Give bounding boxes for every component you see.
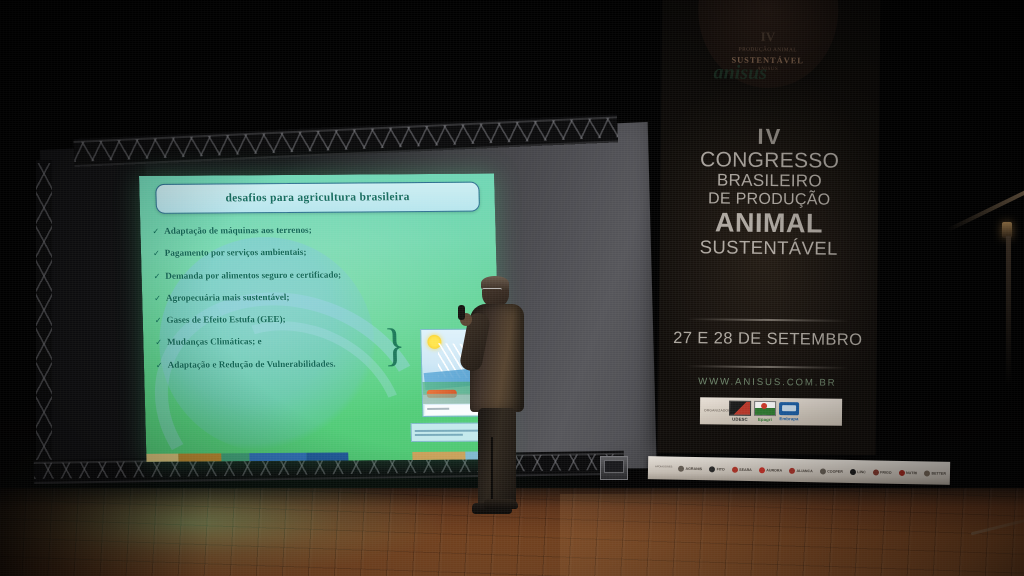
floor-logo: FITO (709, 466, 725, 472)
banner-date: 27 E 28 DE SETEMBRO (659, 329, 877, 350)
check-icon: ✓ (155, 317, 162, 325)
banner-roman-numeral: IV (661, 123, 879, 151)
floor-logo-name: SEARA (739, 467, 752, 471)
check-icon: ✓ (154, 272, 161, 280)
banner-title-line-2: BRASILEIRO (668, 171, 870, 191)
bullet-text: Adaptação de máquinas aos terrenos; (164, 225, 312, 236)
sponsor-name: UDESC (732, 417, 748, 422)
list-item: ✓ Pagamento por serviços ambientais; (153, 246, 453, 258)
floor-logo-name: BETTER (932, 471, 946, 475)
truss-bracing (36, 163, 52, 467)
list-item: ✓ Agropecuária mais sustentável; (154, 291, 454, 303)
bullet-text: Gases de Efeito Estufa (GEE); (166, 314, 285, 325)
epagri-logo-icon (754, 401, 776, 416)
floor-logo-name: FITO (717, 467, 725, 471)
list-item: ✓ Adaptação de máquinas aos terrenos; (152, 224, 452, 236)
floor-logo: BETTER (924, 470, 946, 476)
speaker-legs (478, 408, 516, 506)
banner-sponsor-row: ORGANIZADORES: UDESC Epagri Embrapa (700, 397, 842, 425)
floor-logo: LINC (850, 468, 866, 474)
banner-title-line-1: CONGRESSO (669, 149, 871, 174)
floor-logo-name: FRIGO (880, 470, 891, 474)
banner-title-line-5: SUSTENTÁVEL (668, 237, 870, 259)
light-stand-post (1006, 236, 1011, 386)
floor-shadow-left (0, 488, 210, 576)
sponsor-embrapa: Embrapa (779, 402, 799, 421)
floor-logo-name: NUTRI (906, 471, 917, 475)
microphone-icon (458, 305, 465, 320)
check-icon: ✓ (154, 295, 161, 303)
floor-logo-name: ALIANCA (797, 468, 813, 472)
slide-title-box: desafios para agricultura brasileira (155, 182, 480, 214)
floor-logo-name: AGRANIS (685, 466, 702, 470)
speaker-shoe-right (484, 499, 518, 509)
sponsor-row-label: ORGANIZADORES: (704, 409, 726, 413)
bullet-text: Pagamento por serviços ambientais; (165, 247, 307, 258)
anisus-script-logo: anisus (713, 61, 767, 85)
check-icon: ✓ (156, 362, 163, 370)
floor-logo-name: LINC (857, 470, 865, 474)
floor-logo-name: AURORA (766, 468, 782, 472)
banner-title: CONGRESSO BRASILEIRO DE PRODUÇÃO ANIMAL … (668, 149, 871, 259)
speaker-figure (466, 277, 524, 517)
list-item: ✓ Adaptação e Redução de Vulnerabilidade… (156, 358, 456, 370)
brace-glyph: } (383, 322, 406, 368)
floor-logo: FRIGO (873, 469, 892, 475)
stage-equipment-box (600, 456, 628, 480)
bullet-text: Adaptação e Redução de Vulnerabilidades. (168, 358, 336, 369)
floor-logo: AURORA (759, 467, 782, 473)
banner-title-line-3: DE PRODUÇÃO (668, 190, 870, 209)
floor-logo: COOPER (820, 468, 843, 474)
seal-numeral: IV (761, 29, 776, 45)
list-item: ✓ Gases de Efeito Estufa (GEE); (155, 313, 455, 325)
slide-title-text: desafios para agricultura brasileira (225, 191, 410, 204)
sponsor-epagri: Epagri (754, 401, 776, 422)
floor-logo: SEARA (732, 466, 752, 472)
banner-url: WWW.ANISUS.COM.BR (658, 376, 876, 389)
floor-reflection (560, 494, 1024, 576)
slide-bullet-list: ✓ Adaptação de máquinas aos terrenos; ✓ … (152, 224, 456, 382)
check-icon: ✓ (152, 228, 159, 236)
glasses-icon (482, 288, 502, 294)
udesc-logo-icon (729, 401, 751, 416)
bullet-text: Mudanças Climáticas; e (167, 337, 262, 348)
floor-banner-label: APOIADORES: (655, 466, 671, 469)
bullet-text: Agropecuária mais sustentável; (166, 292, 290, 303)
list-item: ✓ Demanda por alimentos seguro e certifi… (153, 268, 453, 280)
floor-logo: NUTRI (899, 469, 918, 475)
speaker-leg-split (491, 437, 493, 499)
stage-photo-scene: desafios para agricultura brasileira ✓ A… (0, 0, 1024, 576)
floor-logo: AGRANIS (678, 465, 702, 471)
floor-logo: ALIANCA (789, 467, 813, 473)
sponsor-name: Embrapa (779, 416, 798, 421)
bullet-text: Demanda por alimentos seguro e certifica… (165, 269, 341, 280)
screen-dark-border (40, 145, 153, 470)
check-icon: ✓ (153, 250, 160, 258)
floor-logo-name: COOPER (827, 469, 843, 473)
truss-upright-left (36, 160, 52, 470)
embrapa-logo-icon (779, 402, 799, 415)
seal-upper-text: PRODUÇÃO ANIMAL (739, 47, 797, 54)
list-item: ✓ Mudanças Climáticas; e (155, 335, 455, 347)
sponsor-name: Epagri (758, 417, 772, 422)
event-banner: IV PRODUÇÃO ANIMAL SUSTENTÁVEL ANISUS an… (658, 0, 881, 455)
check-icon: ✓ (155, 339, 162, 347)
projected-slide: desafios para agricultura brasileira ✓ A… (139, 174, 502, 462)
sponsor-udesc: UDESC (729, 401, 751, 422)
banner-title-line-4: ANIMAL (668, 208, 870, 239)
